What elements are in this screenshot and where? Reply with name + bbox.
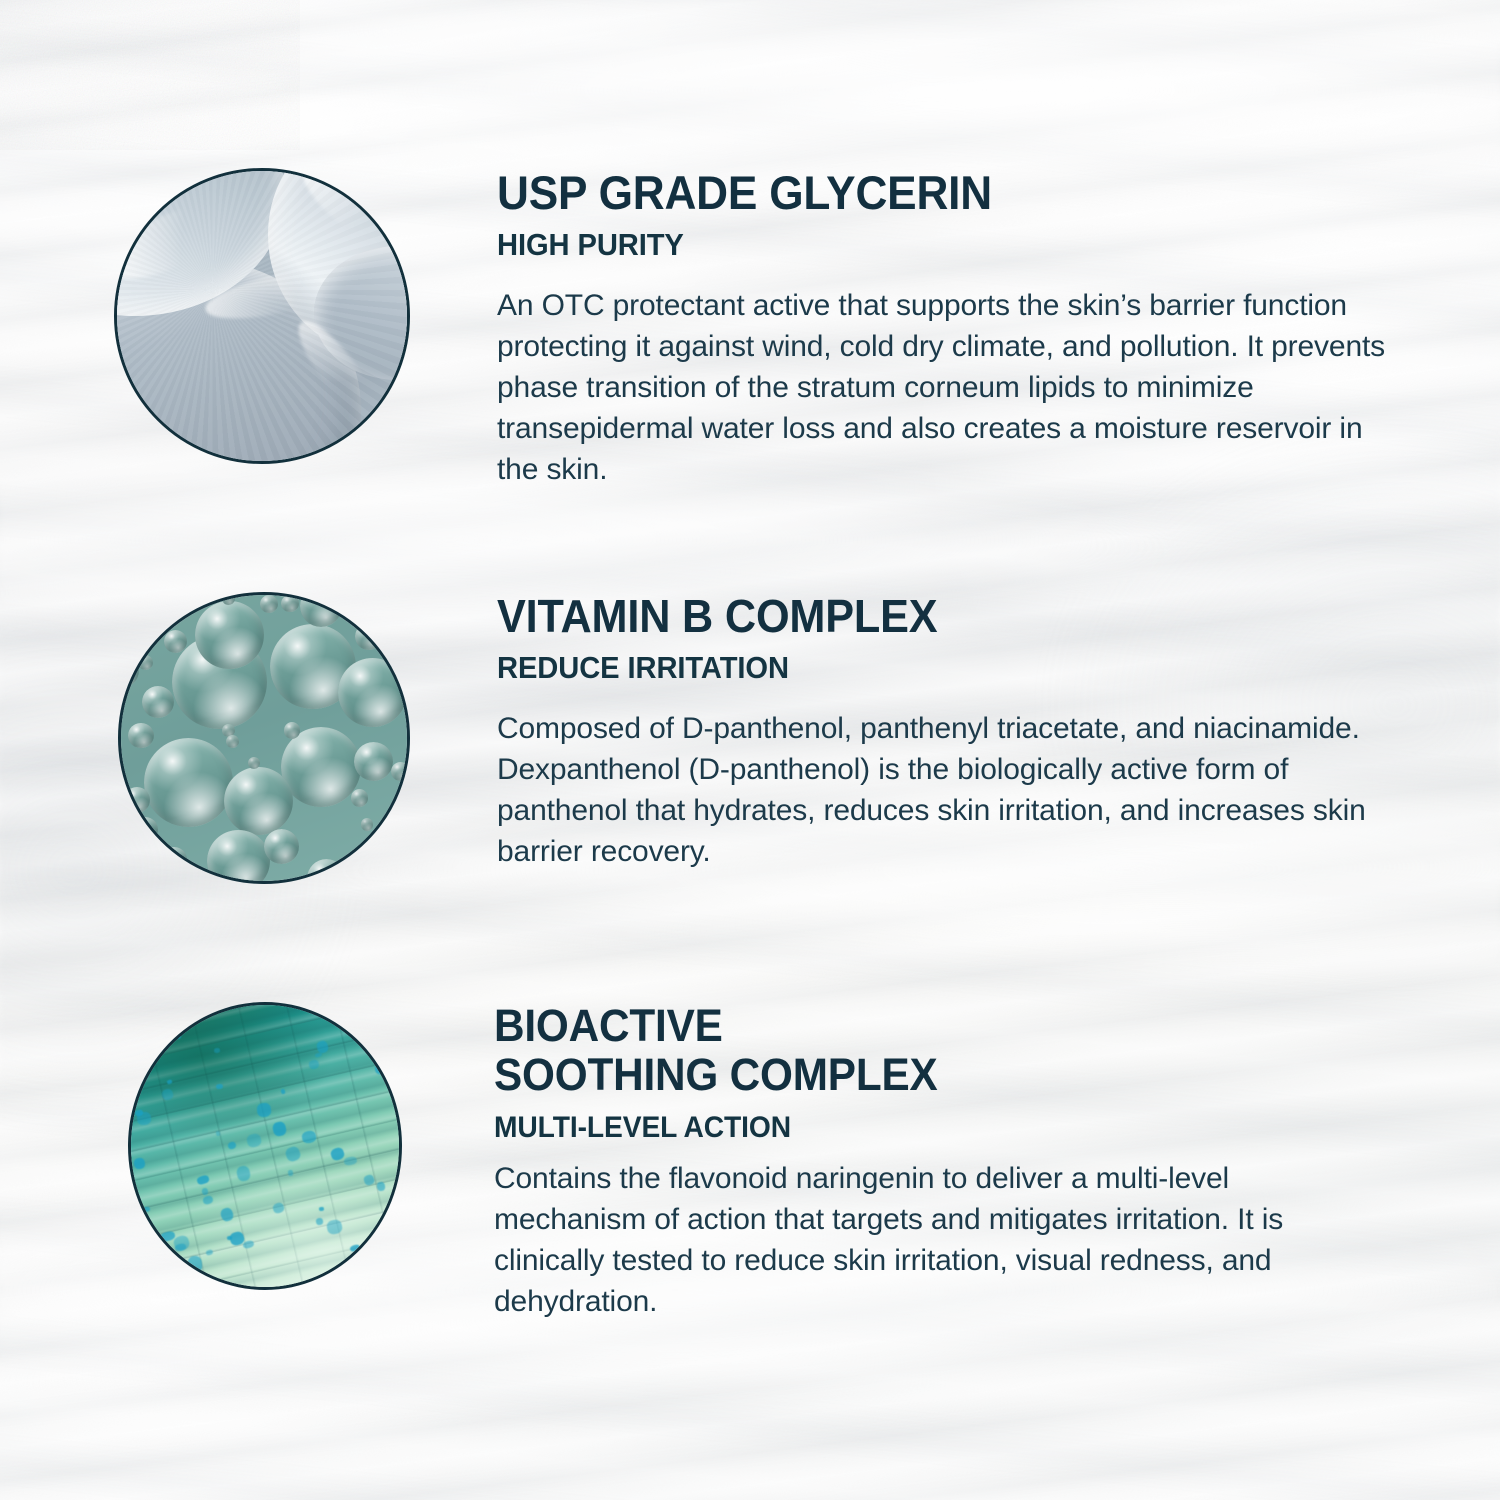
bubble [165,592,195,611]
glycerin-droplets-macro-image [117,171,407,461]
ingredient-copy: USP GRADE GLYCERIN HIGH PURITY An OTC pr… [497,168,1397,490]
bubble [144,738,233,827]
bubble [361,818,374,831]
bubble [224,767,293,836]
ingredient-subheadline: REDUCE IRRITATION [497,650,1343,686]
ingredient-copy: BIOACTIVE SOOTHING COMPLEX MULTI-LEVEL A… [494,1002,1394,1322]
tissue-stained-nucleus [187,1255,203,1273]
bubble [352,596,381,625]
bubble [351,789,369,807]
bubble [381,621,410,656]
bubble [260,595,279,614]
ingredient-headline: VITAMIN B COMPLEX [497,592,1343,641]
ingredient-description: An OTC protectant active that supports t… [497,285,1387,490]
ingredient-headline: BIOACTIVE SOOTHING COMPLEX [494,1002,1340,1099]
bubble [358,860,397,884]
ingredient-section-glycerin: USP GRADE GLYCERIN HIGH PURITY An OTC pr… [0,168,1397,490]
bubble [222,592,235,605]
ingredient-subheadline: MULTI-LEVEL ACTION [494,1111,1340,1146]
droplet-grain [117,171,407,461]
bubble [281,727,361,807]
circle-frame [118,592,410,884]
bubble [226,735,239,748]
ingredient-section-bioactive: BIOACTIVE SOOTHING COMPLEX MULTI-LEVEL A… [0,1002,1394,1322]
tissue-stained-nucleus [287,1170,293,1176]
tissue-stained-nucleus [376,1181,385,1191]
tissue-stained-nucleus [136,1111,151,1125]
bubble [161,847,186,872]
circle-frame [114,168,410,464]
bubble [281,595,299,613]
bubble [388,592,410,613]
ingredient-list: USP GRADE GLYCERIN HIGH PURITY An OTC pr… [0,0,1500,1500]
ingredient-image-bioactive [128,1002,402,1290]
bubble [142,686,174,718]
bubble [124,787,150,813]
ingredient-subheadline: HIGH PURITY [497,227,1343,263]
bubble [284,722,300,738]
bubble [118,653,139,688]
bubble [195,601,264,670]
bubble [391,762,410,781]
ingredient-image-vitamin-b [118,592,410,884]
ingredient-headline: USP GRADE GLYCERIN [497,168,1343,218]
bubble [128,723,154,749]
bubble [264,829,299,864]
ingredient-section-vitamin-b: VITAMIN B COMPLEX REDUCE IRRITATION Comp… [0,592,1397,884]
ingredient-copy: VITAMIN B COMPLEX REDUCE IRRITATION Comp… [497,592,1397,872]
bubble [355,623,382,650]
circle-frame [128,1002,402,1290]
plant-tissue-microscopy-image [131,1005,399,1287]
teal-bubble-cluster-image [121,595,407,881]
bubble [370,825,406,861]
ingredient-description: Composed of D-panthenol, panthenyl triac… [497,708,1387,872]
bubble [138,655,153,670]
bubble [133,817,158,842]
bubble [338,658,407,727]
ingredient-description: Contains the flavonoid naringenin to del… [494,1158,1344,1322]
bubble [300,592,342,627]
tissue-stained-nucleus [256,1103,271,1118]
bubble [148,868,161,881]
bubble [307,859,346,884]
bubble [120,625,145,650]
ingredient-image-glycerin [114,168,410,464]
bubble [207,830,270,884]
bubble [164,630,187,653]
bubble [354,742,393,781]
